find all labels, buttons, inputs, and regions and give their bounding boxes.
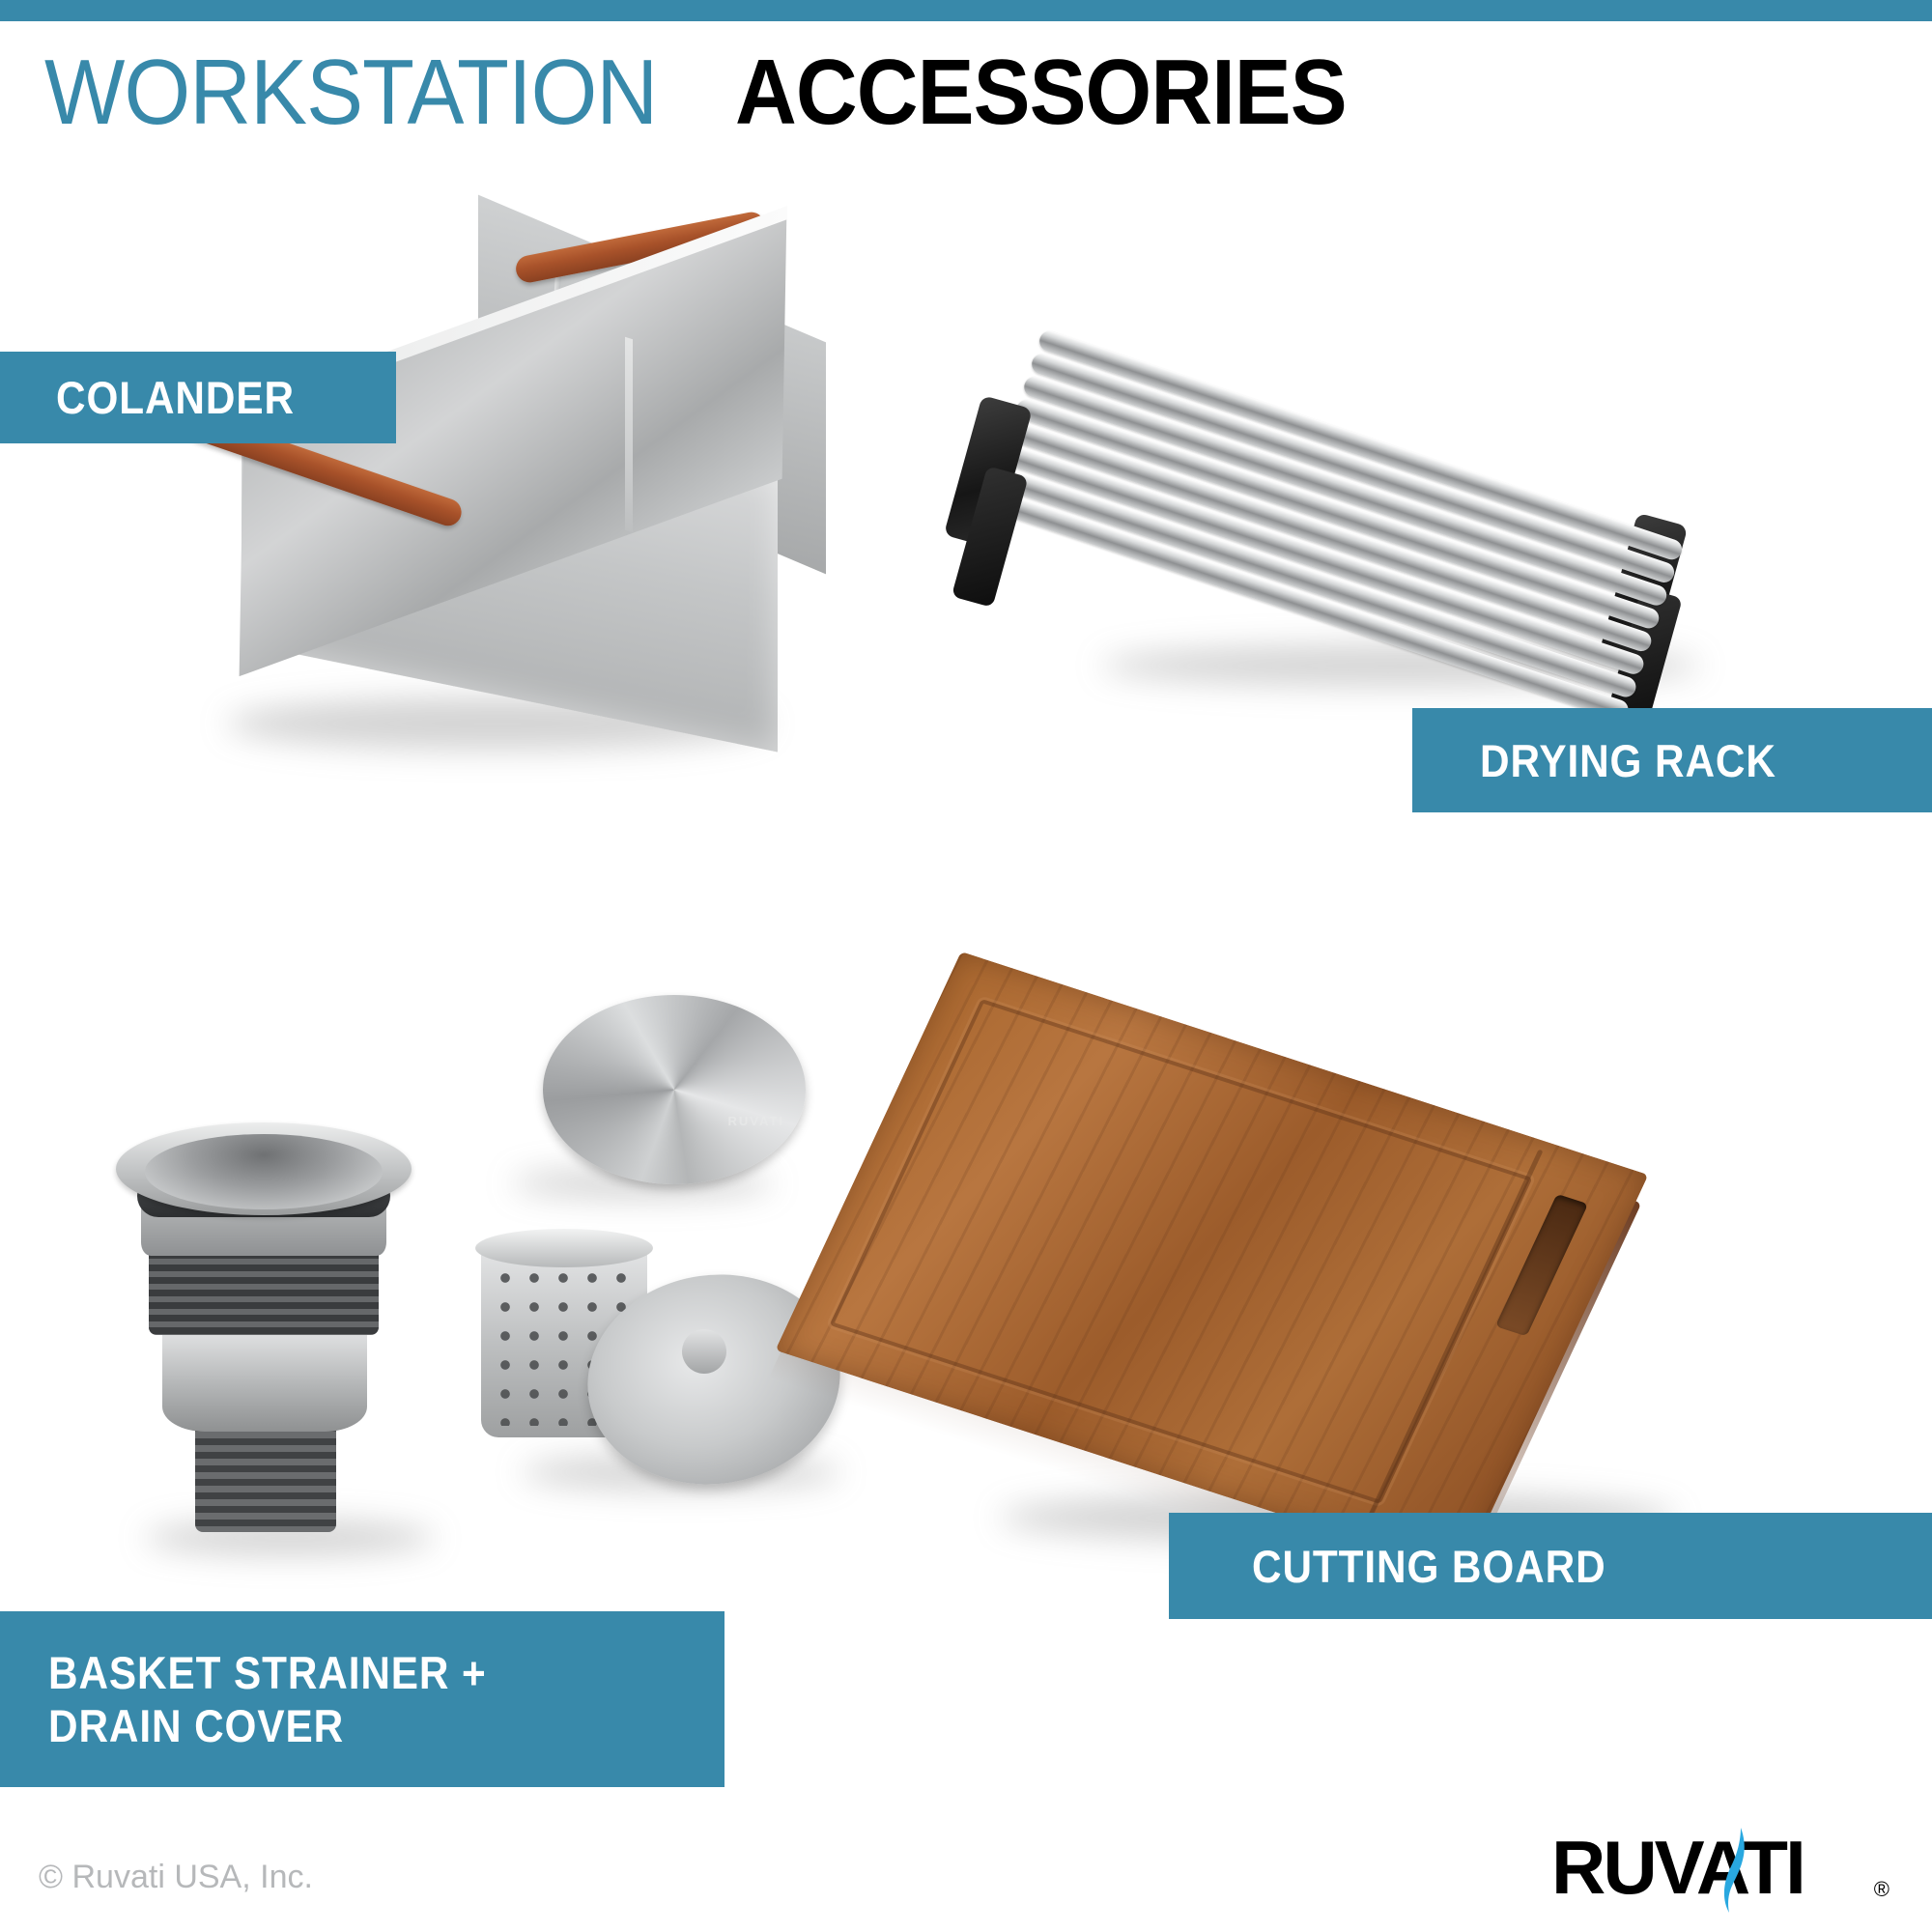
strainer-body-threads (149, 1246, 379, 1335)
svg-text:RUVATI: RUVATI (1551, 1826, 1804, 1910)
cutting-board-icon (961, 952, 1889, 1570)
basket-lid-knob (682, 1329, 726, 1374)
strainer-bowl (145, 1134, 383, 1209)
drying-rack-icon (1043, 290, 1835, 696)
top-accent-bar (0, 0, 1932, 21)
registered-trademark-symbol: ® (1874, 1877, 1889, 1902)
drain-cover-disc (543, 995, 806, 1184)
strainer-tailpiece-threads (195, 1418, 336, 1532)
strainer-cup (162, 1327, 367, 1432)
page-title: WORKSTATIONACCESSORIES (44, 46, 1400, 139)
label-colander: COLANDER (0, 352, 396, 443)
label-basket-strainer-line2: DRAIN COVER (48, 1699, 344, 1752)
basket-rim (475, 1229, 653, 1267)
label-basket-strainer: BASKET STRAINER + DRAIN COVER (0, 1611, 724, 1787)
label-cutting-board-text: CUTTING BOARD (1252, 1540, 1606, 1593)
title-bold-word: ACCESSORIES (735, 46, 1347, 139)
label-drying-rack: DRYING RACK (1412, 708, 1932, 812)
ruvati-logo: RUVATI ® (1551, 1831, 1889, 1910)
colander-divider-panel (625, 337, 633, 533)
label-basket-strainer-line1: BASKET STRAINER + (48, 1646, 487, 1699)
ruvati-logo-mark: RUVATI (1551, 1826, 1870, 1915)
copyright-text: © Ruvati USA, Inc. (39, 1859, 313, 1896)
cutting-board-surface (776, 952, 1649, 1574)
basket-strainer-icon (106, 1005, 821, 1565)
label-drying-rack-text: DRYING RACK (1480, 734, 1776, 787)
label-cutting-board: CUTTING BOARD (1169, 1513, 1932, 1619)
colander-icon (188, 241, 961, 744)
label-colander-text: COLANDER (56, 371, 295, 424)
title-light-word: WORKSTATION (44, 46, 657, 139)
